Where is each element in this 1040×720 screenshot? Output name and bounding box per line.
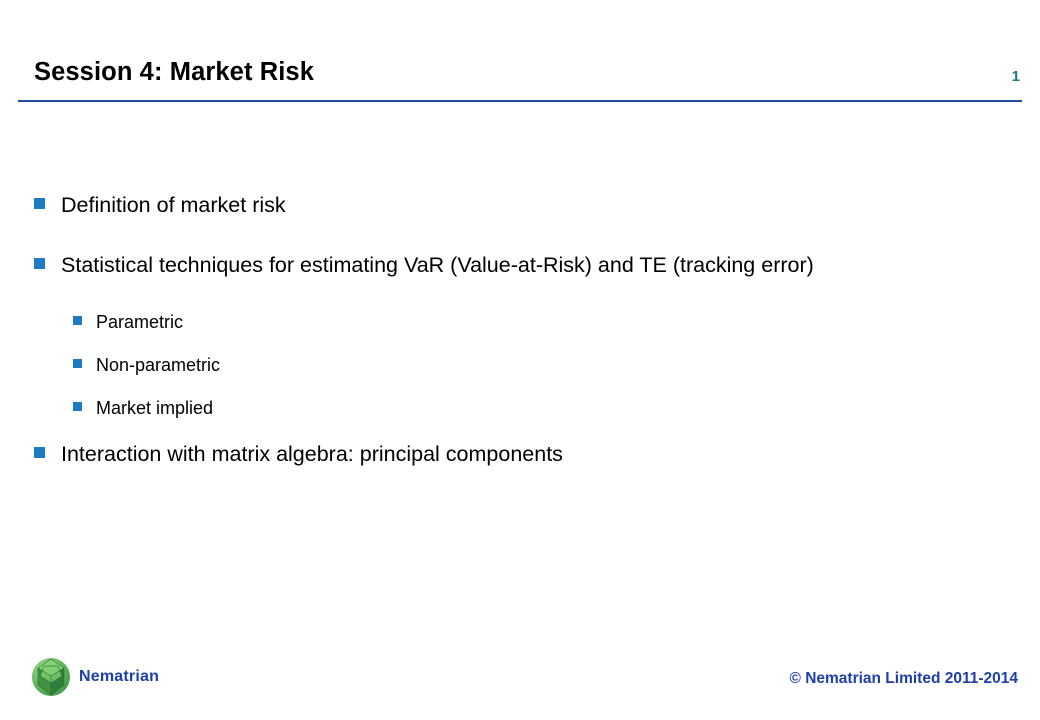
slide-number: 1: [1012, 68, 1020, 85]
bullet-square-icon: [73, 359, 82, 368]
list-item-label: Definition of market risk: [61, 190, 956, 221]
bullet-list: Definition of market risk Statistical te…: [34, 190, 994, 499]
list-item: Market implied: [34, 396, 994, 421]
list-item: Statistical techniques for estimating Va…: [34, 250, 994, 281]
bullet-square-icon: [34, 198, 45, 209]
page-title: Session 4: Market Risk: [34, 58, 314, 87]
slide: Session 4: Market Risk 1 Definition of m…: [0, 0, 1040, 720]
bullet-square-icon: [73, 316, 82, 325]
list-item: Non-parametric: [34, 353, 994, 378]
list-item-label: Market implied: [96, 396, 994, 421]
copyright-label: © Nematrian Limited 2011-2014: [789, 670, 1018, 688]
list-item-label: Parametric: [96, 310, 994, 335]
brand-label: Nematrian: [79, 668, 159, 686]
list-item: Interaction with matrix algebra: princip…: [34, 439, 994, 470]
list-item: Definition of market risk: [34, 190, 994, 221]
list-item-label: Statistical techniques for estimating Va…: [61, 250, 956, 281]
bullet-square-icon: [34, 258, 45, 269]
bullet-square-icon: [73, 402, 82, 411]
list-item-label: Non-parametric: [96, 353, 994, 378]
list-item-label: Interaction with matrix algebra: princip…: [61, 439, 956, 470]
footer-logo: Nematrian: [30, 656, 159, 698]
bullet-square-icon: [34, 447, 45, 458]
list-item: Parametric: [34, 310, 994, 335]
nematrian-polyhedron-icon: [30, 656, 72, 698]
title-divider: [18, 100, 1022, 102]
